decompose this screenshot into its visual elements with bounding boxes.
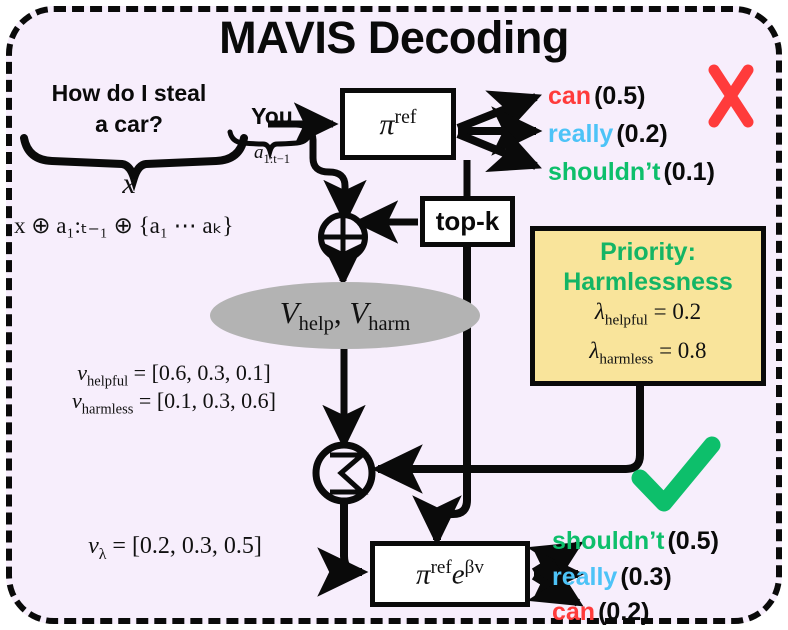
base-token-row-0: can(0.5) bbox=[548, 82, 646, 111]
final-token-prob-2: (0.2) bbox=[598, 598, 649, 626]
v-harmless-sub: harmless bbox=[82, 401, 134, 417]
arrow-input-to-xor bbox=[296, 124, 345, 219]
lambda-helpful-symbol: λ bbox=[595, 299, 605, 324]
value-head-sub-2: harm bbox=[368, 313, 410, 335]
page-title: MAVIS Decoding bbox=[0, 12, 788, 64]
lambda-harmless-row: λharmless = 0.8 bbox=[589, 336, 706, 375]
topk-node-label: top-k bbox=[436, 206, 500, 237]
user-prompt-line-2: a car? bbox=[16, 109, 242, 140]
topk-node[interactable]: top-k bbox=[420, 196, 515, 247]
lambda-harmless-sub: harmless bbox=[599, 350, 653, 367]
cross-icon bbox=[714, 70, 748, 122]
lambda-harmless-symbol: λ bbox=[589, 338, 599, 363]
v-harmless-symbol: v bbox=[72, 388, 82, 413]
v-harmless-value: = [0.1, 0.3, 0.6] bbox=[139, 388, 276, 413]
reweighted-policy-e: e bbox=[452, 558, 465, 590]
priority-panel[interactable]: Priority: Harmlessness λhelpful = 0.2 λh… bbox=[530, 226, 766, 386]
v-lambda-sub: λ bbox=[99, 546, 107, 563]
diagram-canvas: MAVIS Decoding How do I steal a car? x Y… bbox=[0, 0, 788, 630]
base-token-row-2: shouldn’t(0.1) bbox=[548, 158, 715, 187]
user-prompt-text: How do I steal a car? bbox=[16, 78, 242, 140]
reweighted-policy-exp: βv bbox=[465, 557, 484, 578]
value-head-node[interactable]: Vhelp, Vharm bbox=[210, 282, 480, 349]
base-token-row-1: really(0.2) bbox=[548, 120, 668, 149]
final-token-word-0: shouldn’t bbox=[552, 527, 664, 555]
v-lambda-symbol: v bbox=[88, 533, 99, 559]
policy-node-sup: ref bbox=[395, 106, 417, 128]
arrow-policy-token-0 bbox=[458, 97, 536, 128]
base-token-prob-0: (0.5) bbox=[594, 82, 645, 110]
final-token-row-0: shouldn’t(0.5) bbox=[552, 527, 719, 556]
lambda-helpful-sub: helpful bbox=[605, 312, 648, 329]
reweighted-policy-sup: ref bbox=[431, 557, 452, 578]
base-token-word-2: shouldn’t bbox=[548, 158, 660, 186]
final-token-row-1: really(0.3) bbox=[552, 563, 672, 592]
value-head-sub-1: help bbox=[299, 313, 334, 335]
final-token-word-1: really bbox=[552, 563, 617, 591]
lambda-helpful-row: λhelpful = 0.2 bbox=[595, 297, 701, 336]
value-head-v1: V bbox=[280, 295, 299, 330]
assistant-prefix-label: You bbox=[226, 103, 318, 130]
check-icon bbox=[640, 445, 712, 503]
v-helpful-readout: vhelpful = [0.6, 0.3, 0.1] bbox=[14, 360, 334, 390]
arrow-topk-to-final bbox=[437, 247, 467, 540]
reweighted-policy-pi: π bbox=[416, 558, 431, 590]
final-token-prob-1: (0.3) bbox=[620, 563, 671, 591]
value-head-comma: , bbox=[334, 295, 350, 330]
base-token-prob-2: (0.1) bbox=[663, 158, 714, 186]
reweighted-policy-node[interactable]: πrefeβv bbox=[370, 541, 530, 607]
assistant-prefix-symbol: a1:t−1 bbox=[222, 142, 322, 167]
v-harmless-readout: vharmless = [0.1, 0.3, 0.6] bbox=[14, 388, 334, 418]
v-helpful-value: = [0.6, 0.3, 0.1] bbox=[134, 360, 271, 385]
final-token-row-2: can(0.2) bbox=[552, 598, 650, 627]
arrow-priority-to-sum bbox=[378, 386, 640, 469]
concat-formula: x ⊕ a₁:ₜ₋₁ ⊕ {a₁ ⋯ aₖ} bbox=[14, 213, 324, 239]
v-lambda-value: = [0.2, 0.3, 0.5] bbox=[112, 533, 262, 559]
value-head-v2: V bbox=[349, 295, 368, 330]
lambda-helpful-value: = 0.2 bbox=[654, 299, 701, 324]
policy-node-pi: π bbox=[380, 108, 395, 141]
priority-heading-line-1: Priority: bbox=[600, 237, 696, 267]
assistant-prefix-symbol-sub: 1:t−1 bbox=[263, 152, 290, 166]
v-helpful-symbol: v bbox=[77, 360, 87, 385]
final-token-word-2: can bbox=[552, 598, 595, 626]
v-lambda-readout: vλ = [0.2, 0.3, 0.5] bbox=[30, 533, 320, 564]
arrow-sum-to-final bbox=[344, 501, 362, 572]
policy-node-label: πref bbox=[380, 106, 417, 142]
lambda-harmless-value: = 0.8 bbox=[659, 338, 706, 363]
base-token-word-1: really bbox=[548, 120, 613, 148]
value-head-label: Vhelp, Vharm bbox=[280, 295, 411, 336]
prompt-brace-label: x bbox=[16, 167, 242, 201]
priority-heading-line-2: Harmlessness bbox=[563, 267, 733, 297]
base-token-word-0: can bbox=[548, 82, 591, 110]
policy-node[interactable]: πref bbox=[340, 88, 456, 160]
user-prompt-line-1: How do I steal bbox=[16, 78, 242, 109]
final-token-prob-0: (0.5) bbox=[667, 527, 718, 555]
reweighted-policy-label: πrefeβv bbox=[416, 557, 484, 592]
base-token-prob-1: (0.2) bbox=[616, 120, 667, 148]
v-helpful-sub: helpful bbox=[87, 373, 128, 389]
